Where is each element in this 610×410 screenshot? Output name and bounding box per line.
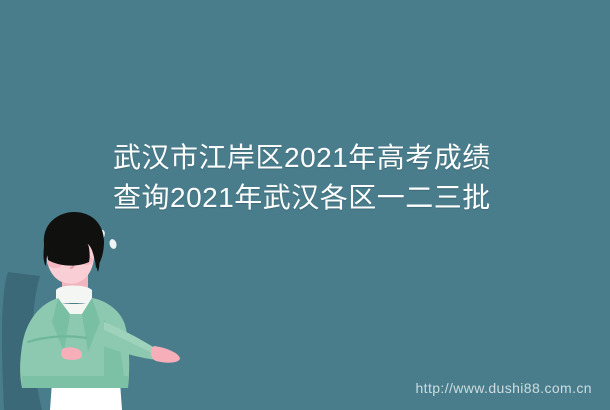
title-line-2: 查询2021年武汉各区一二三批: [113, 178, 543, 218]
person-illustration: [0, 210, 200, 410]
title-line-1: 武汉市江岸区2021年高考成绩: [113, 138, 543, 178]
watermark-url: http://www.dushi88.com.cn: [415, 380, 592, 396]
banner-title: 武汉市江岸区2021年高考成绩 查询2021年武汉各区一二三批: [113, 138, 543, 218]
article-banner: 武汉市江岸区2021年高考成绩 查询2021年武汉各区一二三批 http://w…: [0, 0, 610, 410]
right-hand: [151, 346, 180, 363]
